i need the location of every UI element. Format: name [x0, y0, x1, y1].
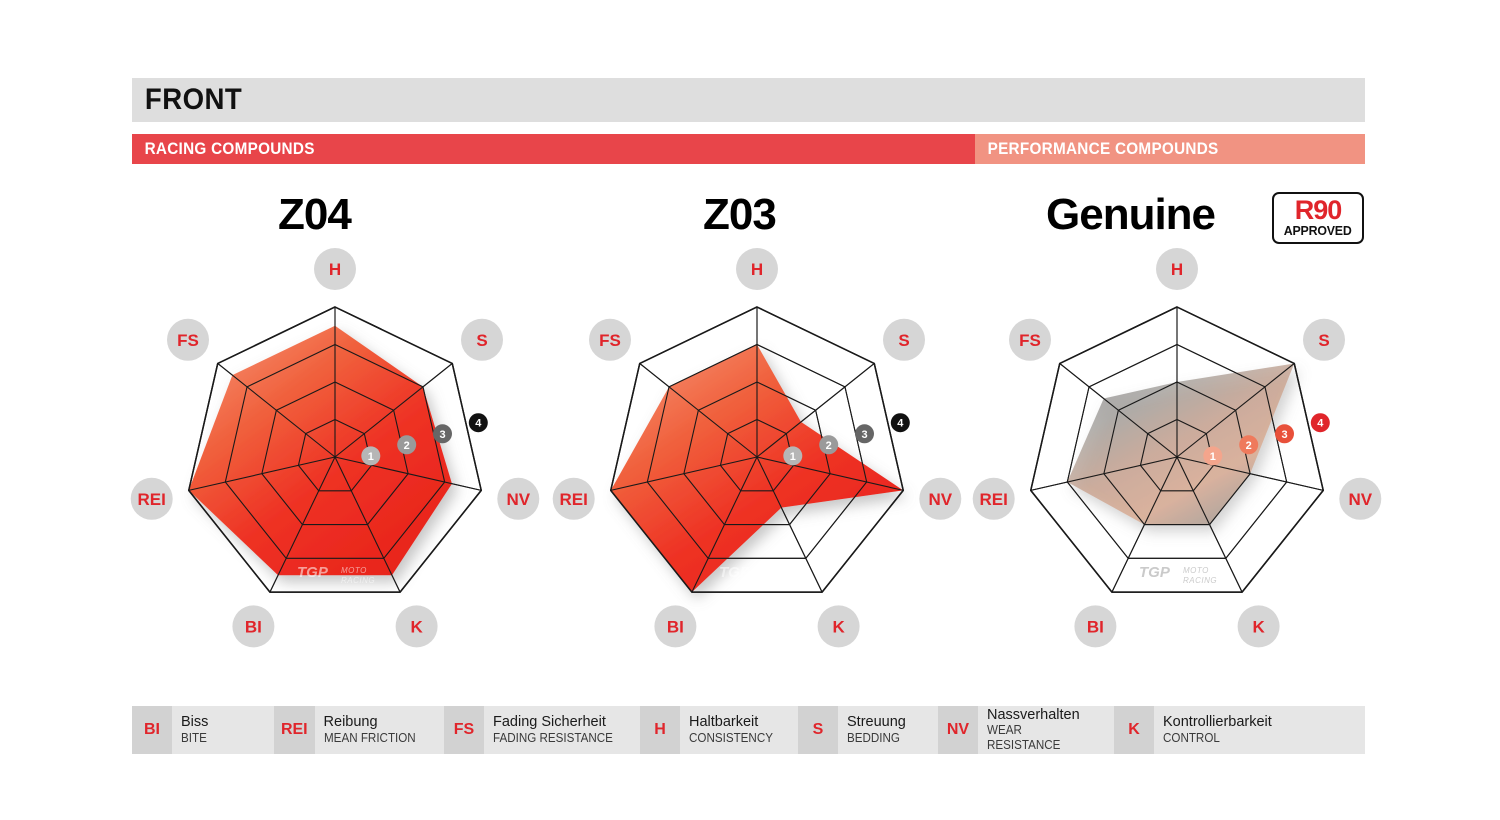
svg-text:K: K — [1252, 617, 1265, 636]
scale-tick-2: 2 — [397, 435, 416, 454]
legend-item-k: KKontrollierbarkeitCONTROL — [1114, 706, 1365, 754]
svg-text:NV: NV — [506, 490, 530, 509]
tgp-watermark: TGPMOTORACING — [1139, 564, 1217, 585]
axis-label-h: H — [1156, 248, 1198, 290]
svg-text:2: 2 — [1246, 440, 1252, 452]
axis-label-s: S — [883, 319, 925, 361]
racing-compounds-segment: RACING COMPOUNDS — [132, 134, 975, 164]
scale-tick-4: 4 — [891, 413, 910, 432]
scale-tick-3: 3 — [1275, 424, 1294, 443]
svg-text:RACING: RACING — [763, 576, 797, 585]
scale-tick-2: 2 — [1239, 435, 1258, 454]
svg-text:RACING: RACING — [341, 576, 375, 585]
svg-text:RACING: RACING — [1183, 576, 1217, 585]
svg-text:NV: NV — [928, 490, 952, 509]
performance-compounds-label: PERFORMANCE COMPOUNDS — [975, 139, 1219, 159]
legend-label-de: Streuung — [847, 714, 926, 731]
axis-label-rei: REI — [973, 478, 1015, 520]
legend-text-fs: Fading SicherheitFADING RESISTANCE — [484, 706, 640, 754]
tgp-watermark: TGPMOTORACING — [719, 564, 797, 585]
chart-title-z04: Z04 — [278, 190, 351, 240]
axis-label-nv: NV — [919, 478, 961, 520]
racing-compounds-label: RACING COMPOUNDS — [132, 139, 315, 159]
svg-text:REI: REI — [980, 490, 1008, 509]
legend-abbr-h: H — [640, 706, 680, 754]
svg-text:FS: FS — [599, 331, 621, 350]
radar-grid-overlay — [1031, 307, 1323, 592]
svg-text:3: 3 — [439, 429, 445, 441]
svg-text:3: 3 — [1281, 429, 1287, 441]
svg-text:REI: REI — [138, 490, 166, 509]
page-title-bar: FRONT — [132, 78, 1365, 122]
legend-item-h: HHaltbarkeitCONSISTENCY — [640, 706, 798, 754]
svg-text:1: 1 — [1210, 451, 1216, 463]
legend-item-rei: REIReibungMEAN FRICTION — [274, 706, 444, 754]
legend-item-bi: BIBissBITE — [132, 706, 274, 754]
radar-data-polygon — [1067, 363, 1294, 524]
radar-chart-z03: TGPMOTORACING1234HSNVKBIREIFS — [562, 262, 952, 652]
svg-text:NV: NV — [1348, 490, 1372, 509]
svg-text:MOTO: MOTO — [341, 566, 367, 575]
svg-text:2: 2 — [826, 440, 832, 452]
svg-text:4: 4 — [1317, 418, 1324, 430]
legend-abbr-fs: FS — [444, 706, 484, 754]
axis-label-fs: FS — [1009, 319, 1051, 361]
r90-code-label: R90 — [1295, 198, 1342, 224]
radar-chart-z04: TGPMOTORACING1234HSNVKBIREIFS — [140, 262, 530, 652]
legend-text-k: KontrollierbarkeitCONTROL — [1154, 706, 1365, 754]
legend-label-en: MEAN FRICTION — [324, 731, 425, 746]
legend-text-rei: ReibungMEAN FRICTION — [315, 706, 444, 754]
legend-label-de: Fading Sicherheit — [493, 714, 628, 731]
svg-text:FS: FS — [177, 331, 199, 350]
legend-text-h: HaltbarkeitCONSISTENCY — [680, 706, 798, 754]
svg-text:1: 1 — [790, 451, 796, 463]
axis-label-k: K — [1238, 605, 1280, 647]
svg-text:S: S — [476, 331, 487, 350]
legend-label-en: BITE — [181, 731, 256, 746]
axis-label-rei: REI — [131, 478, 173, 520]
legend-label-de: Nassverhalten — [987, 707, 1102, 724]
svg-text:2: 2 — [404, 440, 410, 452]
legend-abbr-s: S — [798, 706, 838, 754]
scale-tick-3: 3 — [433, 424, 452, 443]
axis-label-s: S — [1303, 319, 1345, 361]
axis-label-bi: BI — [232, 605, 274, 647]
axis-label-bi: BI — [654, 605, 696, 647]
svg-text:BI: BI — [667, 617, 684, 636]
page-title: FRONT — [132, 83, 242, 117]
scale-tick-4: 4 — [1311, 413, 1330, 432]
svg-text:K: K — [410, 617, 423, 636]
performance-compounds-segment: PERFORMANCE COMPOUNDS — [975, 134, 1365, 164]
svg-text:H: H — [329, 260, 341, 279]
legend-abbr-nv: NV — [938, 706, 978, 754]
legend-item-fs: FSFading SicherheitFADING RESISTANCE — [444, 706, 640, 754]
svg-text:S: S — [898, 331, 909, 350]
legend-text-s: StreuungBEDDING — [838, 706, 938, 754]
legend-abbr-bi: BI — [132, 706, 172, 754]
svg-text:BI: BI — [245, 617, 262, 636]
svg-text:TGP: TGP — [297, 564, 329, 581]
svg-text:1: 1 — [368, 451, 374, 463]
scale-tick-2: 2 — [819, 435, 838, 454]
axis-label-nv: NV — [1339, 478, 1381, 520]
scale-tick-4: 4 — [469, 413, 488, 432]
scale-tick-1: 1 — [783, 446, 802, 465]
svg-text:K: K — [832, 617, 845, 636]
axis-label-h: H — [314, 248, 356, 290]
legend-bar: BIBissBITEREIReibungMEAN FRICTIONFSFadin… — [132, 706, 1365, 754]
svg-text:H: H — [1171, 260, 1183, 279]
legend-label-de: Biss — [181, 714, 262, 731]
legend-text-nv: NassverhaltenWEAR RESISTANCE — [978, 706, 1114, 754]
svg-text:REI: REI — [560, 490, 588, 509]
legend-text-bi: BissBITE — [172, 706, 274, 754]
legend-label-en: CONSISTENCY — [689, 731, 779, 746]
axis-label-nv: NV — [497, 478, 539, 520]
axis-label-k: K — [818, 605, 860, 647]
svg-text:TGP: TGP — [1139, 564, 1171, 581]
axis-label-s: S — [461, 319, 503, 361]
svg-text:S: S — [1318, 331, 1329, 350]
svg-text:BI: BI — [1087, 617, 1104, 636]
r90-approved-badge: R90 APPROVED — [1272, 192, 1364, 244]
r90-approved-label: APPROVED — [1284, 224, 1352, 238]
svg-text:MOTO: MOTO — [1183, 566, 1209, 575]
axis-label-rei: REI — [553, 478, 595, 520]
svg-text:4: 4 — [897, 418, 904, 430]
legend-label-en: BEDDING — [847, 731, 920, 746]
legend-label-de: Haltbarkeit — [689, 714, 786, 731]
chart-title-genuine: Genuine — [1046, 190, 1215, 240]
legend-abbr-rei: REI — [274, 706, 315, 754]
legend-label-en: CONTROL — [1163, 731, 1340, 746]
legend-label-en: WEAR RESISTANCE — [987, 723, 1094, 753]
svg-text:TGP: TGP — [719, 564, 751, 581]
svg-text:4: 4 — [475, 418, 482, 430]
chart-title-z03: Z03 — [703, 190, 776, 240]
radar-grid-overlay — [611, 307, 903, 592]
svg-text:H: H — [751, 260, 763, 279]
axis-label-fs: FS — [589, 319, 631, 361]
axis-label-fs: FS — [167, 319, 209, 361]
scale-tick-3: 3 — [855, 424, 874, 443]
scale-tick-1: 1 — [361, 446, 380, 465]
legend-label-de: Reibung — [324, 714, 432, 731]
compound-category-bar: RACING COMPOUNDS PERFORMANCE COMPOUNDS — [132, 134, 1365, 164]
legend-abbr-k: K — [1114, 706, 1154, 754]
scale-tick-1: 1 — [1203, 446, 1222, 465]
legend-label-de: Kontrollierbarkeit — [1163, 714, 1353, 731]
svg-text:3: 3 — [861, 429, 867, 441]
axis-label-bi: BI — [1074, 605, 1116, 647]
legend-item-nv: NVNassverhaltenWEAR RESISTANCE — [938, 706, 1114, 754]
svg-text:FS: FS — [1019, 331, 1041, 350]
axis-label-h: H — [736, 248, 778, 290]
axis-label-k: K — [396, 605, 438, 647]
svg-text:MOTO: MOTO — [763, 566, 789, 575]
radar-chart-genuine: TGPMOTORACING1234HSNVKBIREIFS — [982, 262, 1372, 652]
legend-label-en: FADING RESISTANCE — [493, 731, 619, 746]
legend-item-s: SStreuungBEDDING — [798, 706, 938, 754]
